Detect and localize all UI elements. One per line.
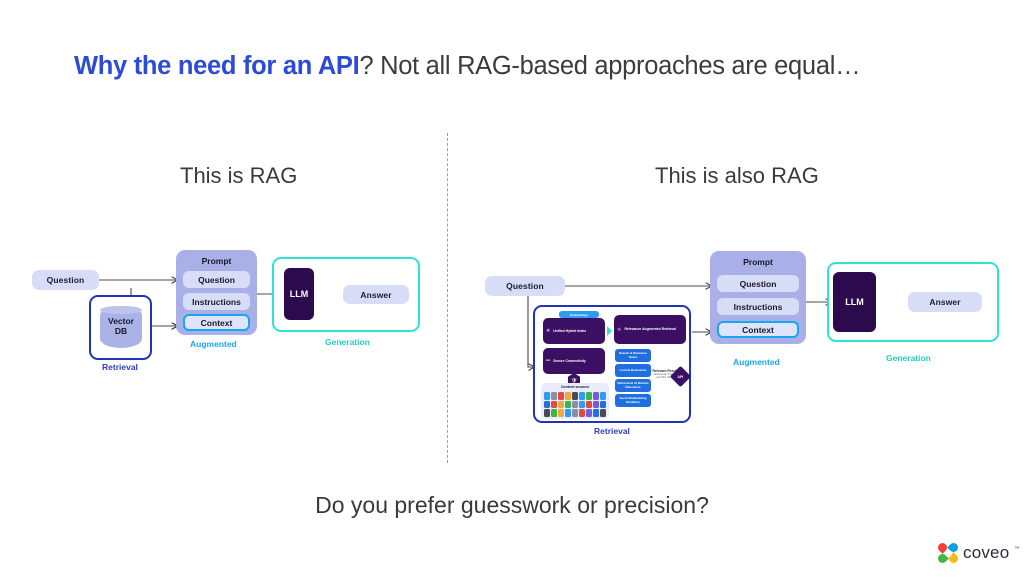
page-title-accent: Why the need for an API xyxy=(74,52,359,80)
left-prompt-row-context: Context xyxy=(183,314,250,331)
retrieval-panel: Embeddings ✳ Unified Hybrid Index ⚯ Secu… xyxy=(535,307,689,421)
page-title: Why the need for an API? Not all RAG-bas… xyxy=(74,52,860,81)
coveo-logo: coveo ™ xyxy=(938,543,1019,563)
source-icon xyxy=(579,401,585,409)
source-icon xyxy=(565,401,571,409)
source-icon xyxy=(593,409,599,417)
secure-connectivity-label: Secure Connectivity xyxy=(553,359,586,363)
coveo-pinwheel-icon xyxy=(938,543,958,563)
content-sources-grid xyxy=(544,392,606,417)
source-icon xyxy=(558,392,564,400)
source-icon xyxy=(544,401,550,409)
pill-search-business-rules: Search & Business Rules xyxy=(615,349,651,362)
right-prompt-box: Prompt Question Instructions Context xyxy=(710,251,806,344)
page-title-rest: ? Not all RAG-based approaches are equal… xyxy=(359,52,860,80)
slide-root: Why the need for an API? Not all RAG-bas… xyxy=(0,0,1024,577)
source-icon xyxy=(586,409,592,417)
source-icon xyxy=(586,401,592,409)
pill-lexical-relevance: Lexical Relevance xyxy=(615,364,651,377)
source-icon xyxy=(544,409,550,417)
source-icon xyxy=(544,392,550,400)
left-prompt-box: Prompt Question Instructions Context xyxy=(176,250,257,335)
source-icon xyxy=(551,392,557,400)
left-answer-chip: Answer xyxy=(343,285,409,304)
content-sources-title: Content sources xyxy=(541,385,609,389)
right-answer-chip: Answer xyxy=(908,292,982,312)
pill-behavioral-ai-models-relevance: Behavioral AI Models Relevance xyxy=(615,379,651,392)
right-prompt-row-instructions: Instructions xyxy=(717,298,799,315)
source-icon xyxy=(586,392,592,400)
left-prompt-row-instructions: Instructions xyxy=(183,293,250,310)
vector-db-icon: Vector DB xyxy=(100,306,142,348)
right-prompt-row-context: Context xyxy=(717,321,799,338)
hybrid-index-icon: ✳ xyxy=(546,328,550,334)
right-llm-box: LLM xyxy=(833,272,876,332)
source-icon xyxy=(600,392,606,400)
right-prompt-row-question: Question xyxy=(717,275,799,292)
source-icon xyxy=(572,392,578,400)
coveo-wordmark: coveo xyxy=(963,543,1009,563)
left-llm-box: LLM xyxy=(284,268,314,320)
left-retrieval-caption: Retrieval xyxy=(102,362,138,372)
bottom-question: Do you prefer guesswork or precision? xyxy=(0,492,1024,519)
source-icon xyxy=(600,409,606,417)
source-icon xyxy=(558,409,564,417)
trademark-symbol: ™ xyxy=(1014,546,1019,552)
relevance-augmented-retrieval-card: ⚛ Relevance Augmented Retrieval xyxy=(614,315,686,344)
column-divider xyxy=(447,133,448,463)
right-prompt-title: Prompt xyxy=(710,257,806,267)
right-generation-caption: Generation xyxy=(886,353,931,363)
lock-network-icon: ⚯ xyxy=(546,358,550,364)
source-icon xyxy=(593,392,599,400)
left-generation-caption: Generation xyxy=(325,337,370,347)
pill-vector-embedding-similarity: Vector/Embedding Similarity xyxy=(615,394,651,407)
secure-connectivity-card: ⚯ Secure Connectivity xyxy=(543,348,605,374)
atom-icon: ⚛ xyxy=(617,327,621,333)
source-icon xyxy=(593,401,599,409)
right-question-chip: Question xyxy=(485,276,565,296)
source-icon xyxy=(579,392,585,400)
vector-db-label-2: DB xyxy=(115,327,127,337)
left-question-chip: Question xyxy=(32,270,99,290)
source-icon xyxy=(579,409,585,417)
unified-hybrid-index-label: Unified Hybrid Index xyxy=(553,329,586,333)
content-sources-panel: Content sources xyxy=(541,383,609,419)
source-icon xyxy=(565,409,571,417)
left-augmented-caption: Augmented xyxy=(190,339,237,349)
api-label: API xyxy=(678,375,684,379)
source-icon xyxy=(551,409,557,417)
source-icon xyxy=(565,392,571,400)
right-retrieval-box: Embeddings ✳ Unified Hybrid Index ⚯ Secu… xyxy=(533,305,691,423)
left-prompt-row-question: Question xyxy=(183,271,250,288)
source-icon xyxy=(551,401,557,409)
left-column-heading: This is RAG xyxy=(180,163,297,189)
left-prompt-title: Prompt xyxy=(176,256,257,266)
embeddings-badge: Embeddings xyxy=(559,311,599,318)
right-augmented-caption: Augmented xyxy=(733,357,780,367)
source-icon xyxy=(558,401,564,409)
panel-arrow-icon xyxy=(606,325,614,337)
source-icon xyxy=(600,401,606,409)
relevance-augmented-retrieval-label: Relevance Augmented Retrieval xyxy=(624,327,676,331)
source-icon xyxy=(572,409,578,417)
right-retrieval-caption: Retrieval xyxy=(594,426,630,436)
right-column-heading: This is also RAG xyxy=(655,163,819,189)
unified-hybrid-index-card: ✳ Unified Hybrid Index xyxy=(543,318,605,344)
source-icon xyxy=(572,401,578,409)
